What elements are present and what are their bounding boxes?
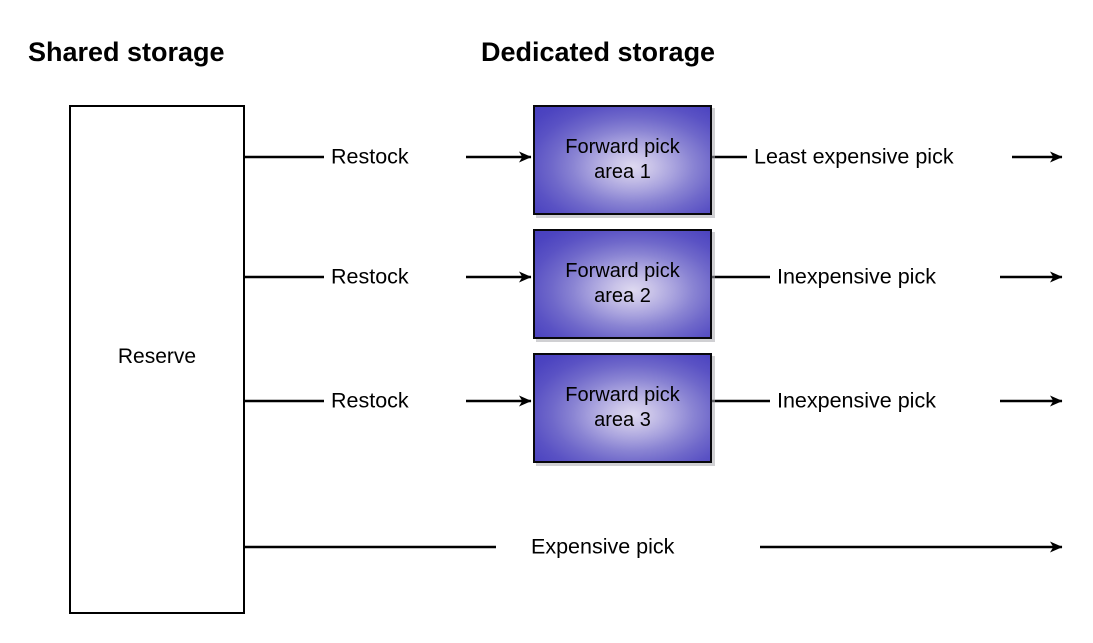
- diagram-canvas: Shared storage Dedicated storage Reserve…: [0, 0, 1093, 643]
- column-heading-shared-storage: Shared storage: [28, 37, 225, 68]
- forward-pick-area-1-box: Forward pick area 1: [533, 105, 712, 215]
- edge-label-restock-1: Restock: [331, 145, 409, 170]
- forward-pick-area-2-label: Forward pick area 2: [565, 259, 679, 309]
- column-heading-dedicated-storage: Dedicated storage: [481, 37, 715, 68]
- edge-label-expensive-pick: Expensive pick: [531, 535, 674, 560]
- forward-pick-area-2-box: Forward pick area 2: [533, 229, 712, 339]
- edge-label-inexpensive-pick-1: Inexpensive pick: [777, 265, 936, 290]
- reserve-box-label: Reserve: [69, 345, 245, 369]
- forward-pick-area-3-label: Forward pick area 3: [565, 383, 679, 433]
- edge-label-least-expensive-pick: Least expensive pick: [754, 145, 954, 170]
- forward-pick-area-1-label: Forward pick area 1: [565, 135, 679, 185]
- edge-label-inexpensive-pick-2: Inexpensive pick: [777, 389, 936, 414]
- edge-label-restock-3: Restock: [331, 389, 409, 414]
- forward-pick-area-3-box: Forward pick area 3: [533, 353, 712, 463]
- edge-label-restock-2: Restock: [331, 265, 409, 290]
